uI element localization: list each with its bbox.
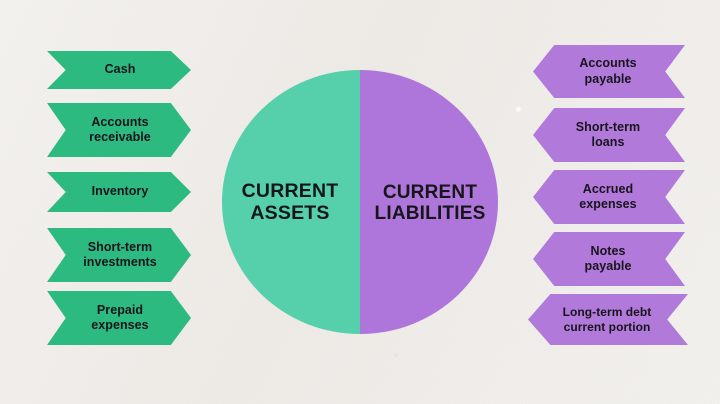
asset-arrow-label: Inventory <box>92 184 149 199</box>
liability-arrow-label: Accrued expenses <box>579 182 636 213</box>
current-assets-liabilities-circle: CURRENT ASSETS CURRENT LIABILITIES <box>222 70 498 334</box>
asset-arrow-label: Prepaid expenses <box>91 303 148 334</box>
asset-arrow-label: Accounts receivable <box>89 115 151 146</box>
asset-arrow-cash[interactable]: Cash <box>47 51 191 89</box>
liability-arrow-accounts-payable[interactable]: Accounts payable <box>533 45 685 98</box>
liability-arrow-label: Notes payable <box>585 244 632 275</box>
liability-arrow-notes-payable[interactable]: Notes payable <box>533 232 685 286</box>
asset-arrow-accounts-receivable[interactable]: Accounts receivable <box>47 103 191 157</box>
asset-arrow-inventory[interactable]: Inventory <box>47 172 191 212</box>
circle-half-current-assets: CURRENT ASSETS <box>222 70 360 334</box>
asset-arrow-label: Cash <box>105 62 136 77</box>
diagram-canvas: Cash Accounts receivable Inventory Short… <box>0 0 720 404</box>
asset-arrow-short-term-investments[interactable]: Short-term investments <box>47 228 191 282</box>
circle-label-current-liabilities: CURRENT LIABILITIES <box>373 182 486 225</box>
liability-arrow-label: Short-term loans <box>576 120 640 151</box>
circle-label-current-assets: CURRENT ASSETS <box>242 181 341 225</box>
circle-half-current-liabilities: CURRENT LIABILITIES <box>360 70 498 334</box>
liability-arrow-label: Accounts payable <box>579 56 636 87</box>
liability-arrow-accrued-expenses[interactable]: Accrued expenses <box>533 170 685 224</box>
asset-arrow-label: Short-term investments <box>83 240 157 271</box>
liability-arrow-long-term-debt-current-portion[interactable]: Long-term debt current portion <box>528 294 688 345</box>
asset-arrow-prepaid-expenses[interactable]: Prepaid expenses <box>47 291 191 345</box>
liability-arrow-label: Long-term debt current portion <box>563 305 652 334</box>
liability-arrow-short-term-loans[interactable]: Short-term loans <box>533 108 685 162</box>
